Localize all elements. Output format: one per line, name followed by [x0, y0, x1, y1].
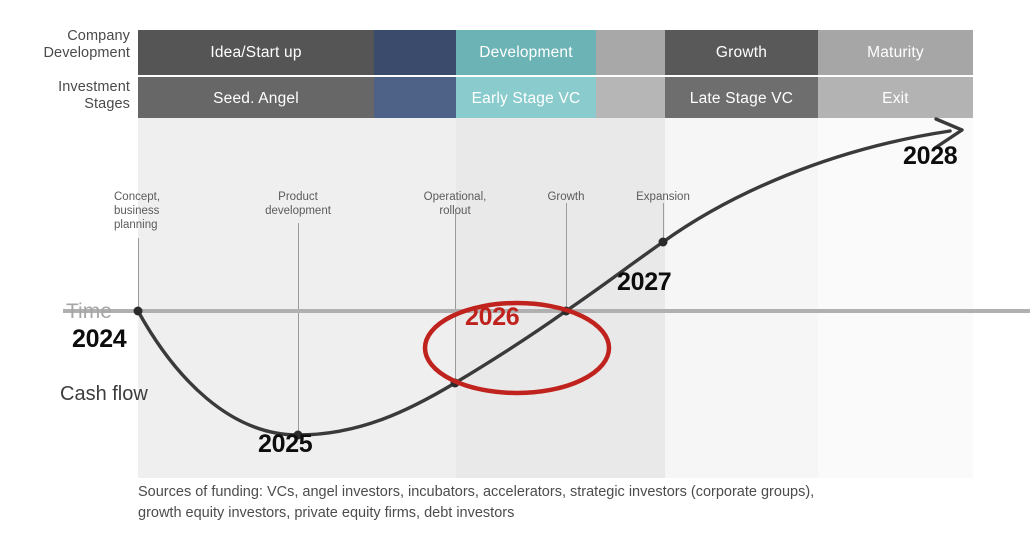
segment-late-stage-vc[interactable]: Late Stage VC — [665, 77, 818, 120]
company-development-bar: Idea/Start up Development Growth Maturit… — [0, 30, 1030, 75]
time-axis-label: Time — [66, 300, 112, 324]
year-label-2028: 2028 — [903, 142, 957, 171]
cash-flow-chart: Concept, business planning Product devel… — [0, 118, 1030, 478]
segment-company-transition-1[interactable] — [374, 30, 456, 75]
segment-exit-label: Exit — [882, 90, 909, 108]
diagram-canvas: Company Development Investment Stages Id… — [0, 0, 1030, 547]
segment-growth[interactable]: Growth — [665, 30, 818, 75]
segment-maturity[interactable]: Maturity — [818, 30, 973, 75]
segment-seed-angel[interactable]: Seed. Angel — [138, 77, 374, 120]
segment-seed-angel-label: Seed. Angel — [213, 90, 299, 108]
year-label-2024: 2024 — [72, 325, 126, 354]
segment-investment-transition-1[interactable] — [374, 77, 456, 120]
segment-company-transition-2[interactable] — [596, 30, 665, 75]
segment-investment-transition-2[interactable] — [596, 77, 665, 120]
year-label-2026: 2026 — [465, 303, 519, 332]
segment-exit[interactable]: Exit — [818, 77, 973, 120]
segment-early-stage-vc[interactable]: Early Stage VC — [456, 77, 596, 120]
segment-late-stage-vc-label: Late Stage VC — [690, 90, 793, 108]
segment-development[interactable]: Development — [456, 30, 596, 75]
funding-sources-caption: Sources of funding: VCs, angel investors… — [138, 482, 998, 524]
data-point-2027 — [659, 238, 668, 247]
cash-flow-axis-label: Cash flow — [60, 383, 148, 406]
year-label-2027: 2027 — [617, 268, 671, 297]
segment-growth-label: Growth — [716, 44, 767, 62]
segment-maturity-label: Maturity — [867, 44, 924, 62]
cash-flow-curve-svg — [0, 118, 1030, 478]
segment-idea-startup[interactable]: Idea/Start up — [138, 30, 374, 75]
segment-early-stage-vc-label: Early Stage VC — [472, 90, 581, 108]
investment-stages-bar: Seed. Angel Early Stage VC Late Stage VC… — [0, 77, 1030, 120]
year-label-2025: 2025 — [258, 430, 312, 459]
segment-development-label: Development — [479, 44, 573, 62]
segment-idea-startup-label: Idea/Start up — [210, 44, 301, 62]
data-point-2024 — [134, 307, 143, 316]
